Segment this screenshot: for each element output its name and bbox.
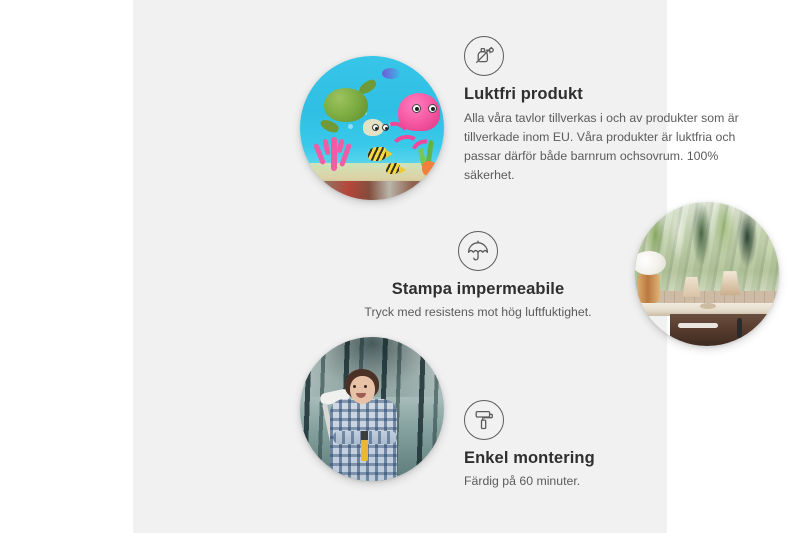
product-image-forest-wallpaper[interactable] xyxy=(300,337,444,481)
product-image-underwater-mural[interactable] xyxy=(300,56,444,200)
bubble-icon xyxy=(348,124,353,129)
feature-title: Enkel montering xyxy=(464,449,744,468)
turtle-eye xyxy=(372,124,379,131)
coral-icon xyxy=(313,133,357,171)
feature-body: Alla våra tavlor tillverkas i och av pro… xyxy=(464,109,764,185)
starfish-icon xyxy=(422,161,438,177)
feature-title: Stampa impermeabile xyxy=(333,280,623,299)
feature-title: Luktfri produkt xyxy=(464,85,764,104)
no-fragrance-icon xyxy=(464,36,504,76)
paint-roller-icon xyxy=(464,400,504,440)
content-panel: Luktfri produkt Alla våra tavlor tillver… xyxy=(133,0,667,533)
soap-dish-icon xyxy=(700,303,716,309)
sea-bottom-strip xyxy=(300,181,444,200)
feature-body: Färdig på 60 minuter. xyxy=(464,472,744,491)
feature-odourless: Luktfri produkt Alla våra tavlor tillver… xyxy=(464,36,764,185)
feature-easy-install: Enkel montering Färdig på 60 minuter. xyxy=(464,400,744,491)
bathroom-scene xyxy=(635,202,779,346)
blue-fish-icon xyxy=(382,68,400,79)
striped-fish-icon xyxy=(386,163,400,174)
octopus-eye xyxy=(428,104,437,113)
product-image-bathroom-wallpaper[interactable] xyxy=(635,202,779,346)
umbrella-icon xyxy=(458,231,498,271)
paint-brush-icon xyxy=(361,439,368,461)
painter-forest-scene xyxy=(300,337,444,481)
woman-painter xyxy=(323,369,409,481)
octopus-eye xyxy=(412,104,421,113)
feature-waterproof: Stampa impermeabile Tryck med resistens … xyxy=(333,231,623,322)
face xyxy=(350,376,375,404)
underwater-scene xyxy=(300,56,444,200)
wood-vanity-cabinet xyxy=(670,314,779,346)
sea-turtle-icon xyxy=(324,88,368,122)
vase-icon xyxy=(638,274,660,304)
page-stage: Luktfri produkt Alla våra tavlor tillver… xyxy=(0,0,800,533)
feature-body: Tryck med resistens mot hög luftfuktighe… xyxy=(333,303,623,322)
striped-fish-icon xyxy=(368,147,387,161)
